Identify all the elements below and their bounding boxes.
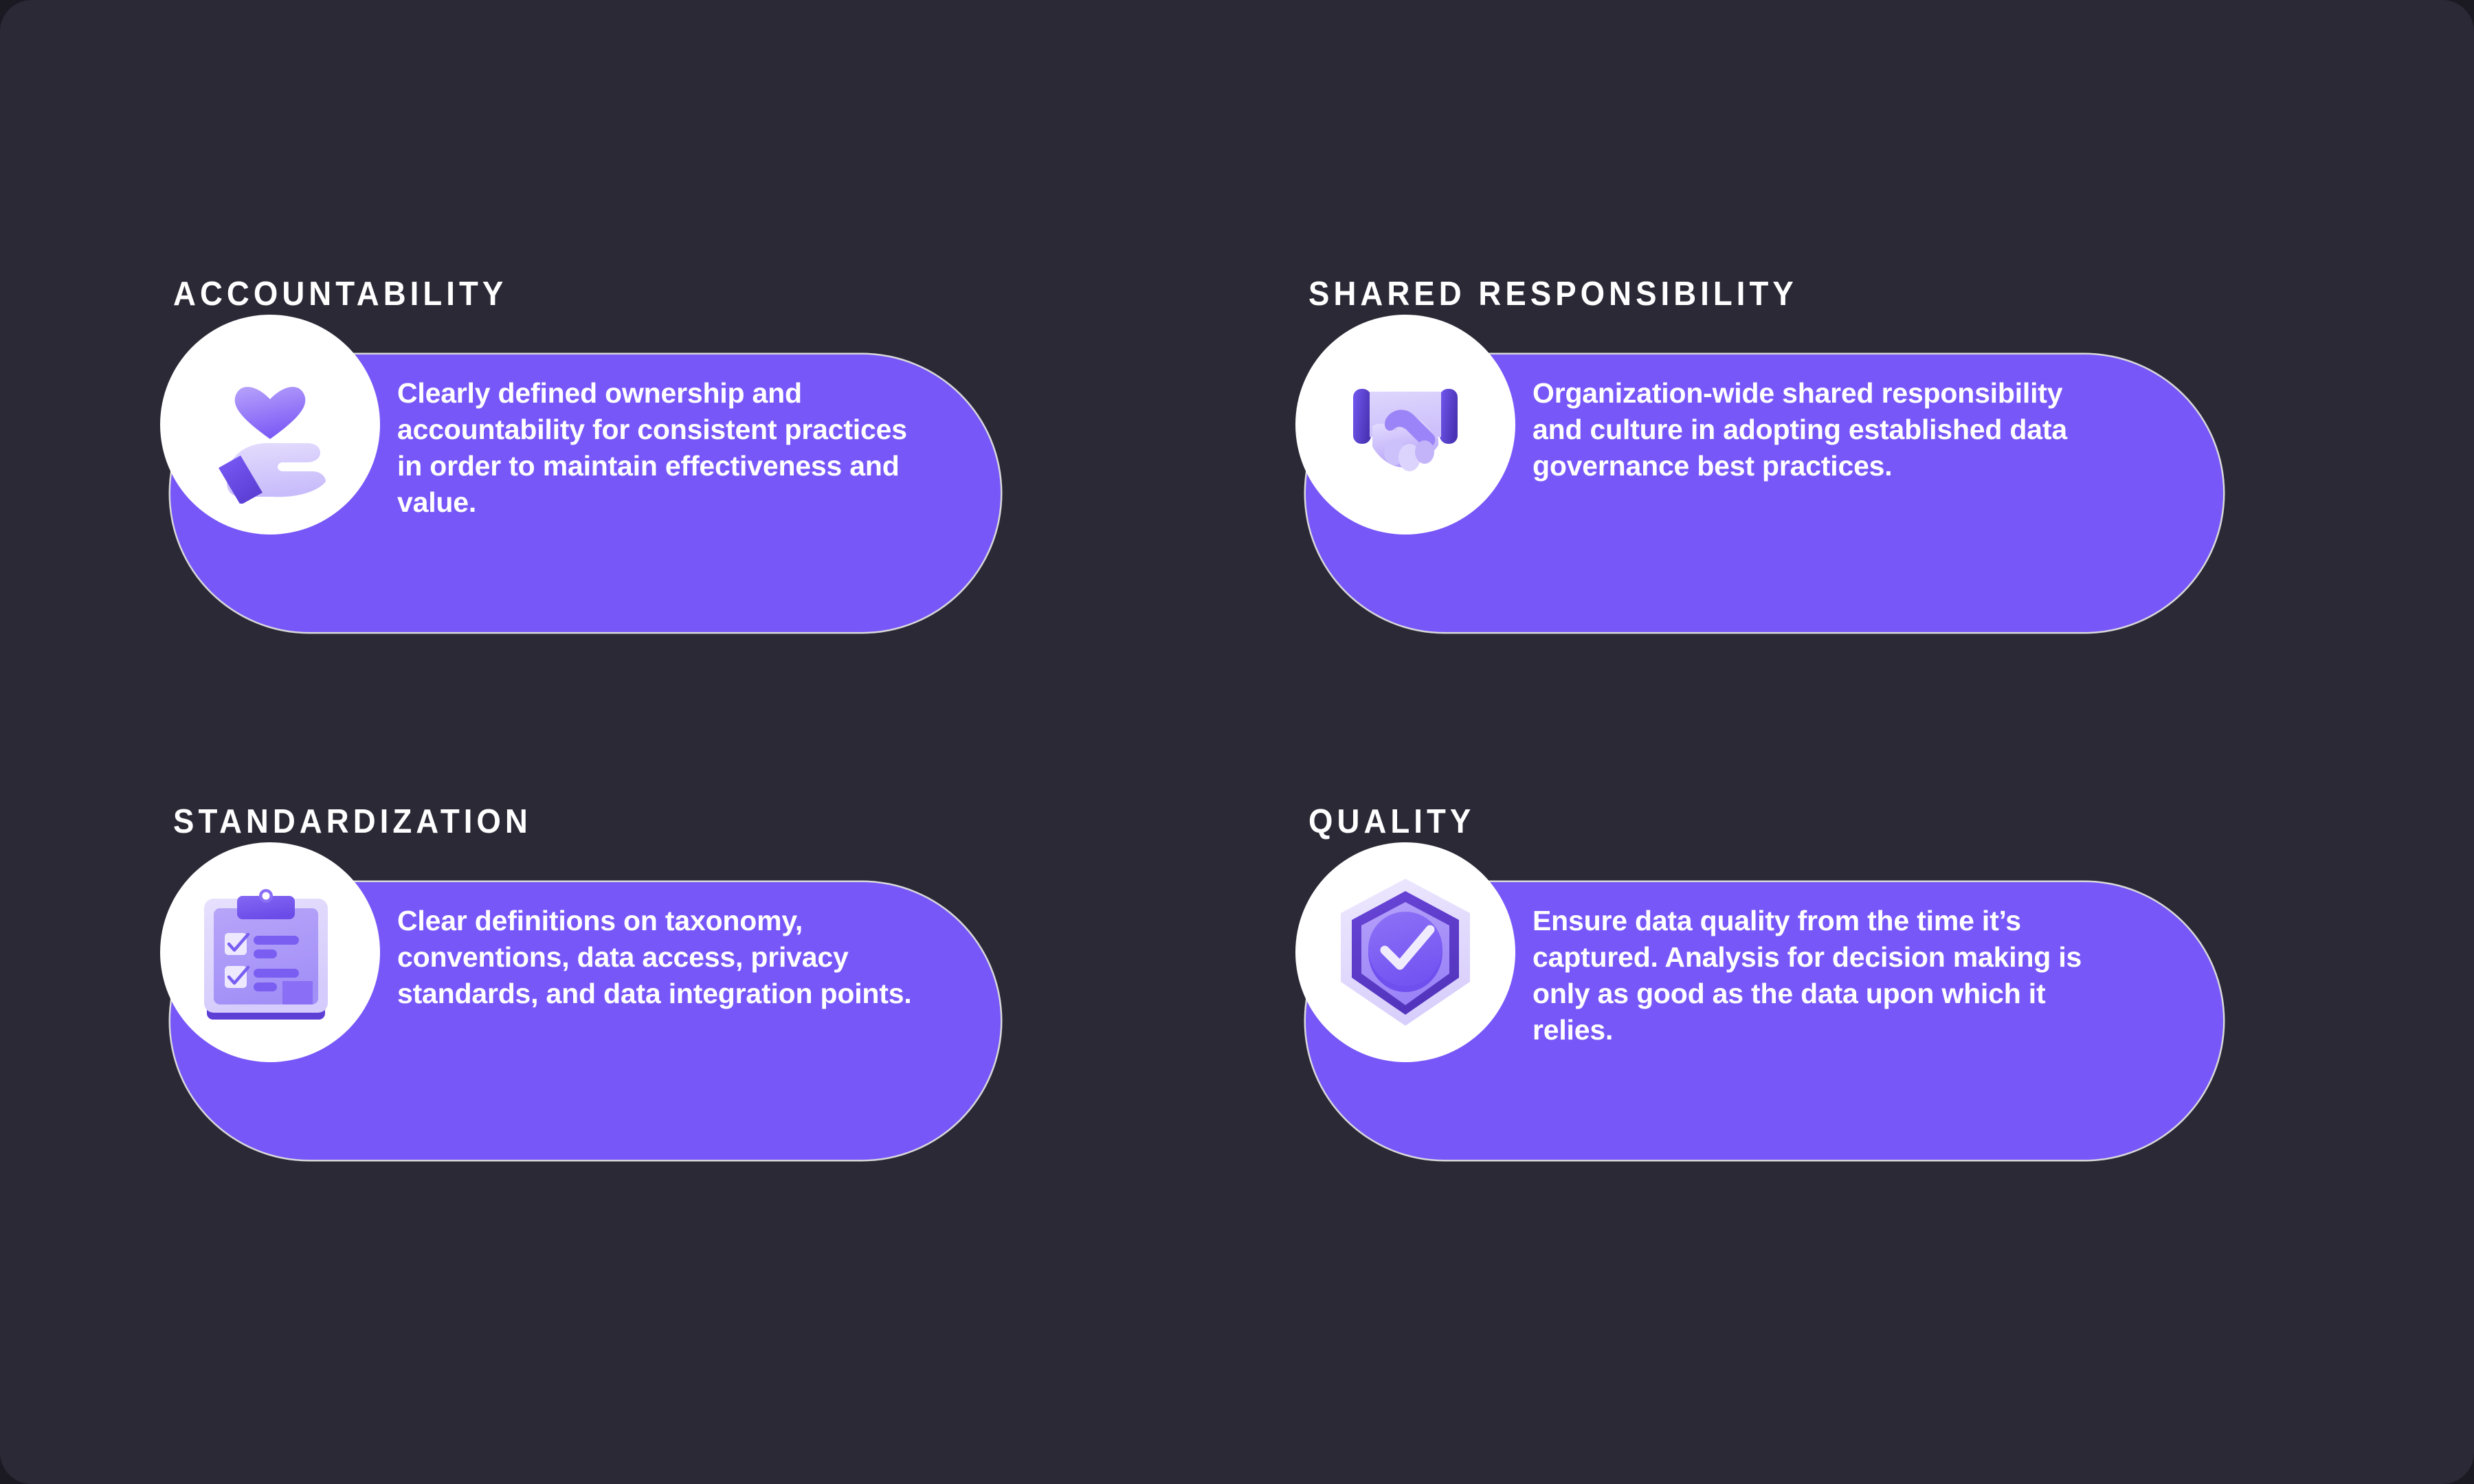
card-description: Organization-wide shared responsibility … [1533,375,2082,484]
card-title: ACCOUNTABILITY [173,275,507,313]
infographic-canvas: ACCOUNTABILITY [0,0,2474,1484]
principle-card-shared-responsibility[interactable]: SHARED RESPONSIBILITY [1306,275,2316,701]
shield-check-icon [1295,842,1515,1062]
principle-card-standardization[interactable]: STANDARDIZATION [170,802,1181,1228]
principles-grid: ACCOUNTABILITY [0,0,2474,1484]
principle-card-accountability[interactable]: ACCOUNTABILITY [170,275,1181,701]
card-description: Clear definitions on taxonomy, conventio… [397,903,920,1012]
card-description: Ensure data quality from the time it’s c… [1533,903,2082,1048]
card-description: Clearly defined ownership and accountabi… [397,375,920,521]
heart-in-hand-icon [160,315,380,535]
principle-card-quality[interactable]: QUALITY [1306,802,2316,1228]
handshake-icon [1295,315,1515,535]
card-title: STANDARDIZATION [173,802,532,841]
card-title: SHARED RESPONSIBILITY [1308,275,1798,313]
clipboard-checklist-icon [160,842,380,1062]
card-title: QUALITY [1308,802,1475,841]
